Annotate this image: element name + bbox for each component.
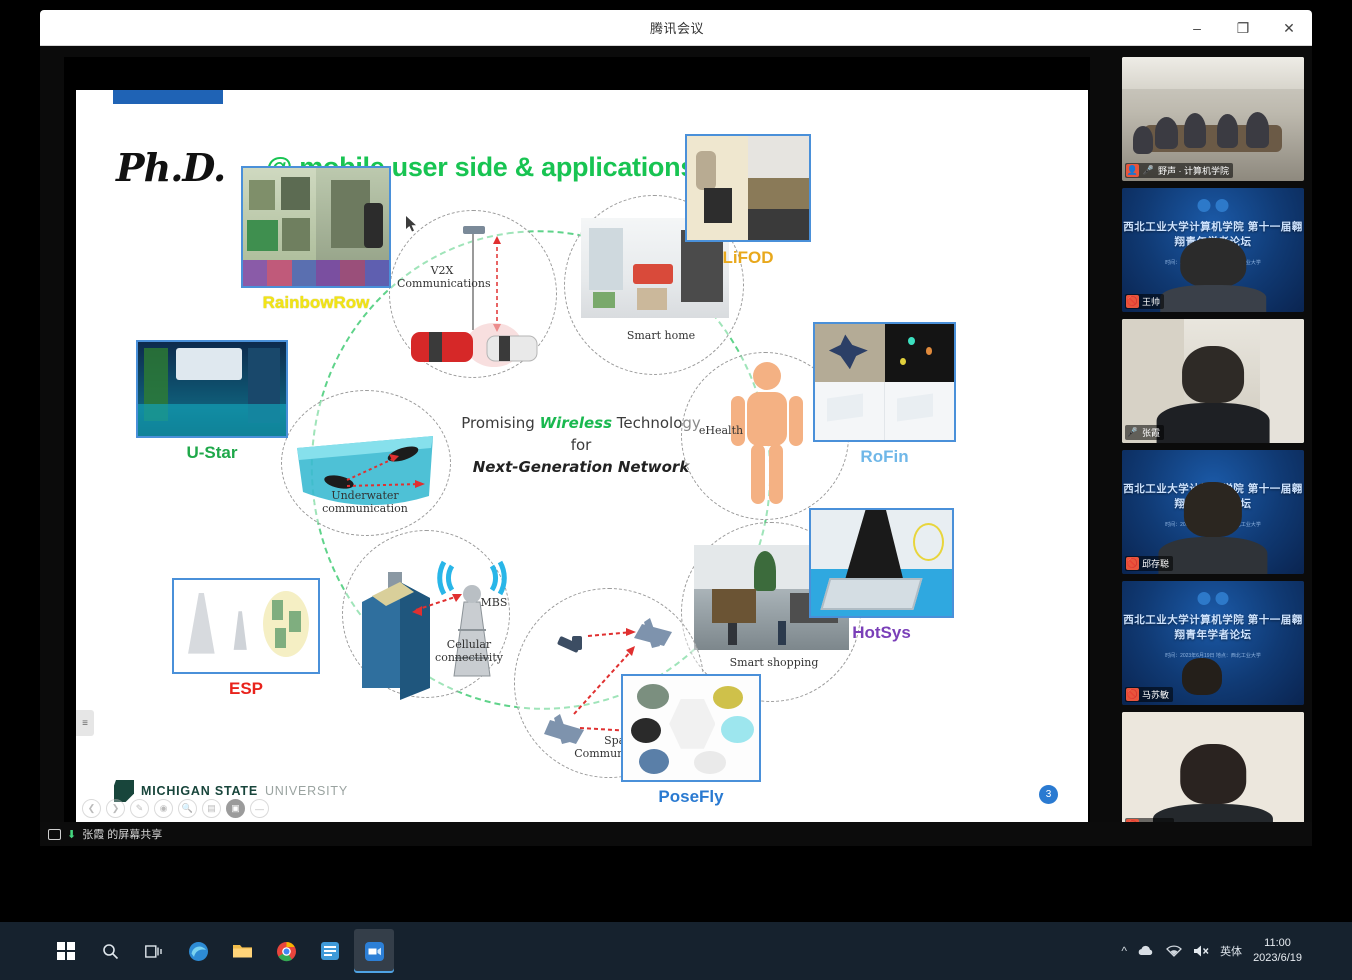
bubble-label-smart-shopping: Smart shopping bbox=[724, 657, 824, 670]
participant-name: 马苏敏 bbox=[1142, 688, 1169, 701]
thumb-esp[interactable] bbox=[172, 578, 320, 674]
slide-accent-bar bbox=[113, 90, 223, 104]
bubble-label-ehealth: eHealth bbox=[691, 425, 751, 438]
screen-share-bar: ⬇ 张霞 的屏幕共享 bbox=[40, 822, 1312, 846]
shared-screen-stage[interactable]: Ph.D. @ mobile user side & applications … bbox=[64, 57, 1090, 836]
tile-wang[interactable]: 西北工业大学计算机学院 第十一届翱翔青年学者论坛 时间：2023年6月19日 地… bbox=[1122, 188, 1304, 312]
thumb-posefly[interactable] bbox=[621, 674, 761, 782]
phd-label: Ph.D. bbox=[116, 145, 225, 190]
thumb-rofin[interactable] bbox=[813, 322, 956, 442]
participant-torso bbox=[1158, 537, 1267, 574]
participant-name: 邱存聪 bbox=[1142, 557, 1169, 570]
participant-name-bar: 🚫 马苏敏 bbox=[1125, 687, 1173, 702]
mic-muted-icon: 🚫 bbox=[1126, 557, 1139, 570]
volume-muted-icon[interactable] bbox=[1193, 944, 1209, 958]
v2x-illustration bbox=[389, 210, 557, 378]
zoom-icon[interactable]: 🔍 bbox=[178, 799, 197, 818]
participant-name: 张霞 bbox=[1142, 426, 1160, 439]
pen-icon[interactable]: ✎ bbox=[130, 799, 149, 818]
search-button[interactable] bbox=[90, 929, 130, 973]
stmt-wireless: Wireless bbox=[540, 414, 612, 432]
windows-logo-icon bbox=[57, 942, 75, 960]
mic-icon: 🎤 bbox=[1126, 426, 1139, 439]
maximize-button[interactable]: ❐ bbox=[1220, 10, 1266, 46]
participant-head bbox=[1180, 744, 1246, 804]
mic-muted-icon: 👤 bbox=[1126, 164, 1139, 177]
next-slide-button[interactable]: ❯ bbox=[106, 799, 125, 818]
show-hidden-icons-button[interactable]: ^ bbox=[1121, 944, 1127, 958]
stmt-line2: Next-Generation Network bbox=[456, 457, 706, 479]
slide-number: 3 bbox=[1039, 785, 1058, 804]
label-posefly: PoseFly bbox=[621, 787, 761, 807]
forum-logo-icon bbox=[1198, 592, 1229, 605]
start-button[interactable] bbox=[46, 929, 86, 973]
chrome-button[interactable] bbox=[266, 929, 306, 973]
mic-muted-icon: 🚫 bbox=[1126, 295, 1139, 308]
thumb-hotsys[interactable] bbox=[809, 508, 954, 618]
label-esp: ESP bbox=[172, 679, 320, 699]
task-view-icon bbox=[145, 944, 163, 959]
mic-muted-icon: 🚫 bbox=[1126, 688, 1139, 701]
windows-taskbar: ^ 英体 11:00 2023/6/19 bbox=[0, 922, 1352, 980]
participant-torso bbox=[1160, 285, 1266, 312]
network-icon[interactable] bbox=[1166, 945, 1182, 958]
thumb-rainbowrow[interactable] bbox=[241, 166, 391, 288]
label-hotsys: HotSys bbox=[809, 623, 954, 643]
bubble-label-cellular: Cellular connectivity bbox=[426, 639, 512, 664]
system-tray: ^ 英体 11:00 2023/6/19 bbox=[1121, 936, 1312, 966]
tile-zhang[interactable]: 🎤 张霞 bbox=[1122, 319, 1304, 443]
bubble-label-mbs: MBS bbox=[474, 597, 514, 610]
edge-button[interactable] bbox=[178, 929, 218, 973]
participant-head bbox=[1180, 238, 1246, 288]
window-titlebar: 腾讯会议 – ❐ ✕ bbox=[40, 10, 1312, 46]
label-lifod: LiFOD bbox=[685, 248, 811, 268]
slide-grid-icon[interactable]: ▤ bbox=[202, 799, 221, 818]
folder-icon bbox=[232, 942, 253, 960]
onedrive-icon[interactable] bbox=[1138, 945, 1155, 958]
task-view-button[interactable] bbox=[134, 929, 174, 973]
minimize-button[interactable]: – bbox=[1174, 10, 1220, 46]
laser-pointer-icon[interactable]: ◉ bbox=[154, 799, 173, 818]
wechat-icon bbox=[320, 941, 340, 961]
side-panel-handle[interactable]: ≡ bbox=[76, 710, 94, 736]
wechat-button[interactable] bbox=[310, 929, 350, 973]
virtual-bg-title: 西北工业大学计算机学院 第十一届翱翔青年学者论坛 bbox=[1122, 613, 1304, 643]
close-button[interactable]: ✕ bbox=[1266, 10, 1312, 46]
label-rofin: RoFin bbox=[813, 447, 956, 467]
search-icon bbox=[102, 943, 119, 960]
screen-share-icon bbox=[48, 829, 61, 840]
thumb-lifod[interactable] bbox=[685, 134, 811, 242]
label-u-star: U-Star bbox=[136, 443, 288, 463]
window-title: 腾讯会议 bbox=[180, 18, 1174, 37]
participant-head bbox=[1182, 658, 1222, 695]
msu-name-bold: MICHIGAN STATE bbox=[141, 784, 258, 798]
participant-name-bar: 👤 🎤 野声 · 计算机学院 bbox=[1125, 163, 1233, 178]
mouse-cursor bbox=[406, 216, 418, 232]
mic-icon: 🎤 bbox=[1142, 164, 1155, 177]
presenter-toolbar: ❮ ❯ ✎ ◉ 🔍 ▤ ▣ — bbox=[82, 799, 269, 818]
edge-icon bbox=[188, 941, 209, 962]
center-statement: Promising Wireless Technology for Next-G… bbox=[456, 413, 706, 478]
bubble-label-v2x: V2X Communications bbox=[397, 265, 487, 290]
meeting-body: Ph.D. @ mobile user side & applications … bbox=[40, 46, 1312, 846]
tile-eujean[interactable]: 🚫 Eujean bbox=[1122, 712, 1304, 836]
forum-logo-icon bbox=[1198, 199, 1229, 212]
cellular-illustration bbox=[342, 510, 522, 710]
camera-icon[interactable]: ▣ bbox=[226, 799, 245, 818]
msu-name-light: UNIVERSITY bbox=[265, 784, 348, 798]
screen: 腾讯会议 – ❐ ✕ Ph.D. @ mobile user side & ap… bbox=[0, 0, 1352, 980]
participant-head bbox=[1182, 346, 1244, 403]
tile-conference-room[interactable]: 👤 🎤 野声 · 计算机学院 bbox=[1122, 57, 1304, 181]
participant-name: 野声 · 计算机学院 bbox=[1158, 164, 1229, 177]
prev-slide-button[interactable]: ❮ bbox=[82, 799, 101, 818]
participant-name-bar: 🚫 邱存聪 bbox=[1125, 556, 1173, 571]
stmt-pre: Promising bbox=[461, 414, 539, 432]
tile-qiu[interactable]: 西北工业大学计算机学院 第十一届翱翔青年学者论坛 时间：2023年6月19日 地… bbox=[1122, 450, 1304, 574]
participant-torso bbox=[1157, 403, 1270, 443]
tencent-meeting-button[interactable] bbox=[354, 929, 394, 973]
tencent-meeting-window: 腾讯会议 – ❐ ✕ Ph.D. @ mobile user side & ap… bbox=[40, 10, 1312, 870]
participant-head bbox=[1184, 482, 1242, 537]
download-arrow-icon: ⬇ bbox=[67, 828, 76, 841]
participant-name: 王帅 bbox=[1142, 295, 1160, 308]
participant-video-strip: 👤 🎤 野声 · 计算机学院 西北工业大学计算机学院 第十一届翱翔青年学者论坛 … bbox=[1122, 57, 1304, 836]
bubble-label-smart-home: Smart home bbox=[616, 330, 706, 343]
clock-date: 2023/6/19 bbox=[1253, 951, 1302, 966]
label-rainbowrow: RainbowRow bbox=[241, 293, 391, 313]
taskbar-items bbox=[40, 929, 394, 973]
tencent-meeting-icon bbox=[364, 941, 385, 962]
file-explorer-button[interactable] bbox=[222, 929, 262, 973]
tile-ma[interactable]: 西北工业大学计算机学院 第十一届翱翔青年学者论坛 时间：2023年6月19日 地… bbox=[1122, 581, 1304, 705]
chrome-icon bbox=[276, 941, 297, 962]
more-options-icon[interactable]: — bbox=[250, 799, 269, 818]
participant-name-bar: 🚫 王帅 bbox=[1125, 294, 1164, 309]
window-controls: – ❐ ✕ bbox=[1174, 10, 1312, 45]
thumb-u-star[interactable] bbox=[136, 340, 288, 438]
presentation-slide: Ph.D. @ mobile user side & applications … bbox=[76, 90, 1088, 826]
participant-name-bar: 🎤 张霞 bbox=[1125, 425, 1164, 440]
clock-time: 11:00 bbox=[1253, 936, 1302, 951]
screen-share-text: 张霞 的屏幕共享 bbox=[82, 826, 162, 842]
ime-indicator[interactable]: 英体 bbox=[1220, 943, 1242, 959]
taskbar-clock[interactable]: 11:00 2023/6/19 bbox=[1253, 936, 1302, 966]
